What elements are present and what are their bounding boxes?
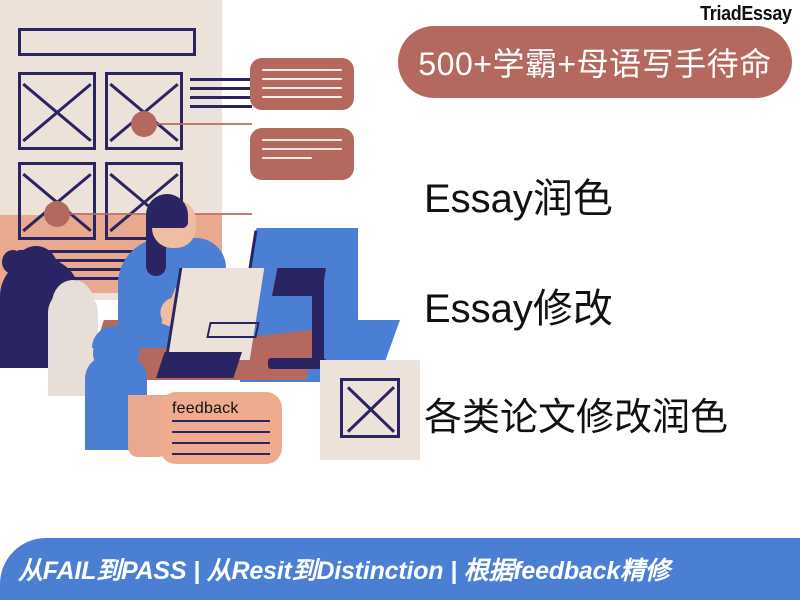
annotation-dot [131,111,157,137]
wireframe-header-bar [18,28,196,56]
person-head-beige [52,280,94,326]
feedback-line [172,453,270,455]
headline-pill-text: 500+学霸+母语写手待命 [418,39,771,85]
bottom-banner-text: 从FAIL到PASS | 从Resit到Distinction | 根据feed… [0,551,670,587]
monitor-foot [268,358,326,369]
illustration-artwork: feedback [0,0,420,540]
service-item-3: 各类论文修改润色 [424,386,728,441]
headline-pill-badge: 500+学霸+母语写手待命 [398,26,792,98]
service-item-1: Essay润色 [424,166,613,224]
laptop-keyboard [206,322,259,338]
annotation-callout-note [250,128,354,180]
service-item-2: Essay修改 [424,276,613,334]
feedback-line [172,442,270,444]
feedback-note: feedback [160,392,282,464]
writer-hair [146,194,188,228]
annotation-dot [44,201,70,227]
laptop-base [156,352,242,378]
feedback-line [172,431,270,433]
feedback-underline [172,420,270,422]
brand-logo: TriadEssay [701,3,792,26]
wireframe-text-lines [190,78,252,114]
poster-root: feedback TriadEssay 500+学霸+母语写手待命 Essay润… [0,0,800,600]
hair-bun-icon [2,250,24,274]
bottom-banner: 从FAIL到PASS | 从Resit到Distinction | 根据feed… [0,538,800,600]
callout-leader-line [144,123,252,125]
annotation-callout-note [250,58,354,110]
feedback-note-label: feedback [172,400,270,418]
monitor-pole [312,272,324,368]
wireframe-image-box [18,72,96,150]
wireframe-image-box [340,378,400,438]
laptop-screen [165,268,265,360]
